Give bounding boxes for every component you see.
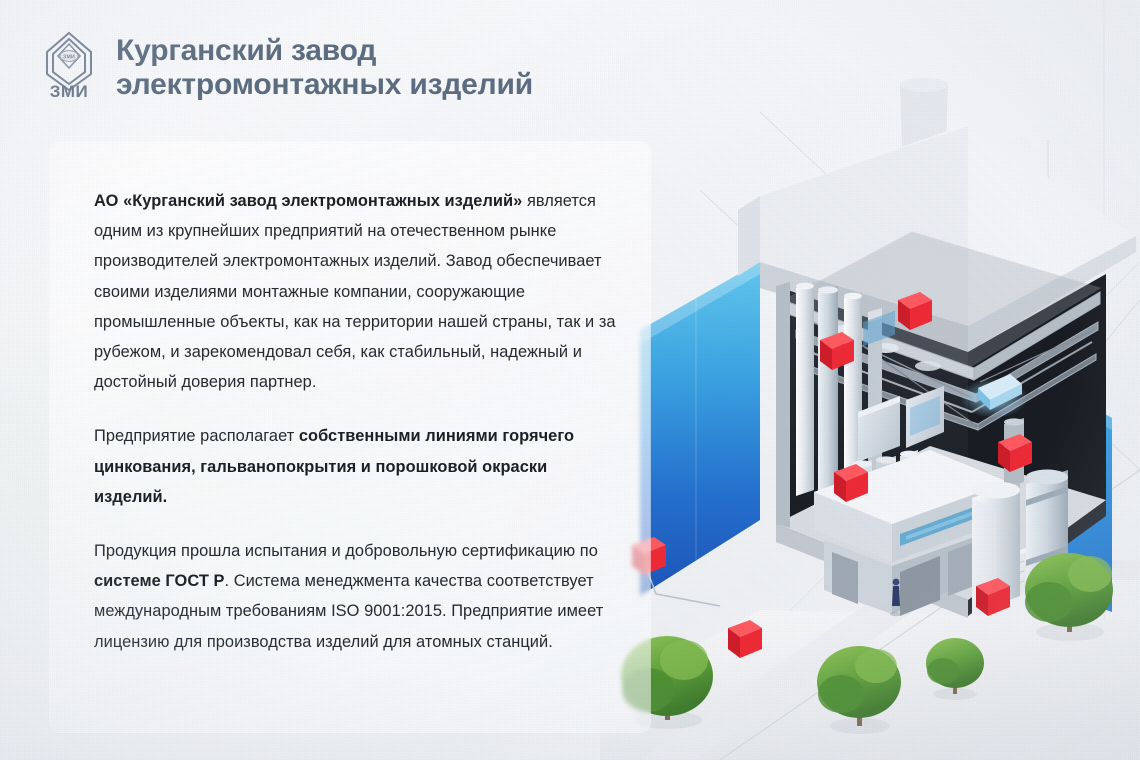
svg-text:ЗМИ: ЗМИ [63, 55, 75, 61]
logo-letters: ЗМИ [50, 82, 89, 98]
paragraph-3: Продукция прошла испытания и добровольну… [94, 536, 624, 657]
about-text-block: АО «Курганский завод электромонтажных из… [94, 186, 624, 657]
page-title-line-2: электромонтажных изделий [116, 68, 533, 102]
paragraph-2-prefix: Предприятие располагает [94, 427, 299, 445]
zmi-logo-icon: ЗМИ ЗМИ [44, 30, 94, 98]
page-title-line-1: Курганский завод [116, 34, 533, 68]
slide-root: ЗМИ ЗМИ Курганский завод электромонтажны… [0, 0, 1140, 760]
paragraph-3-prefix: Продукция прошла испытания и добровольну… [94, 542, 598, 560]
factory-illustration [600, 0, 1140, 760]
paragraph-1-rest: является одним из крупнейших предприятий… [94, 192, 616, 391]
company-name-lead: АО «Курганский завод электромонтажных из… [94, 192, 522, 210]
paragraph-1: АО «Курганский завод электромонтажных из… [94, 186, 624, 397]
page-title: Курганский завод электромонтажных издели… [116, 30, 533, 102]
gost-label: системе ГОСТ Р [94, 572, 224, 590]
paragraph-2: Предприятие располагает собственными лин… [94, 421, 624, 512]
page-header: ЗМИ ЗМИ Курганский завод электромонтажны… [44, 30, 533, 102]
